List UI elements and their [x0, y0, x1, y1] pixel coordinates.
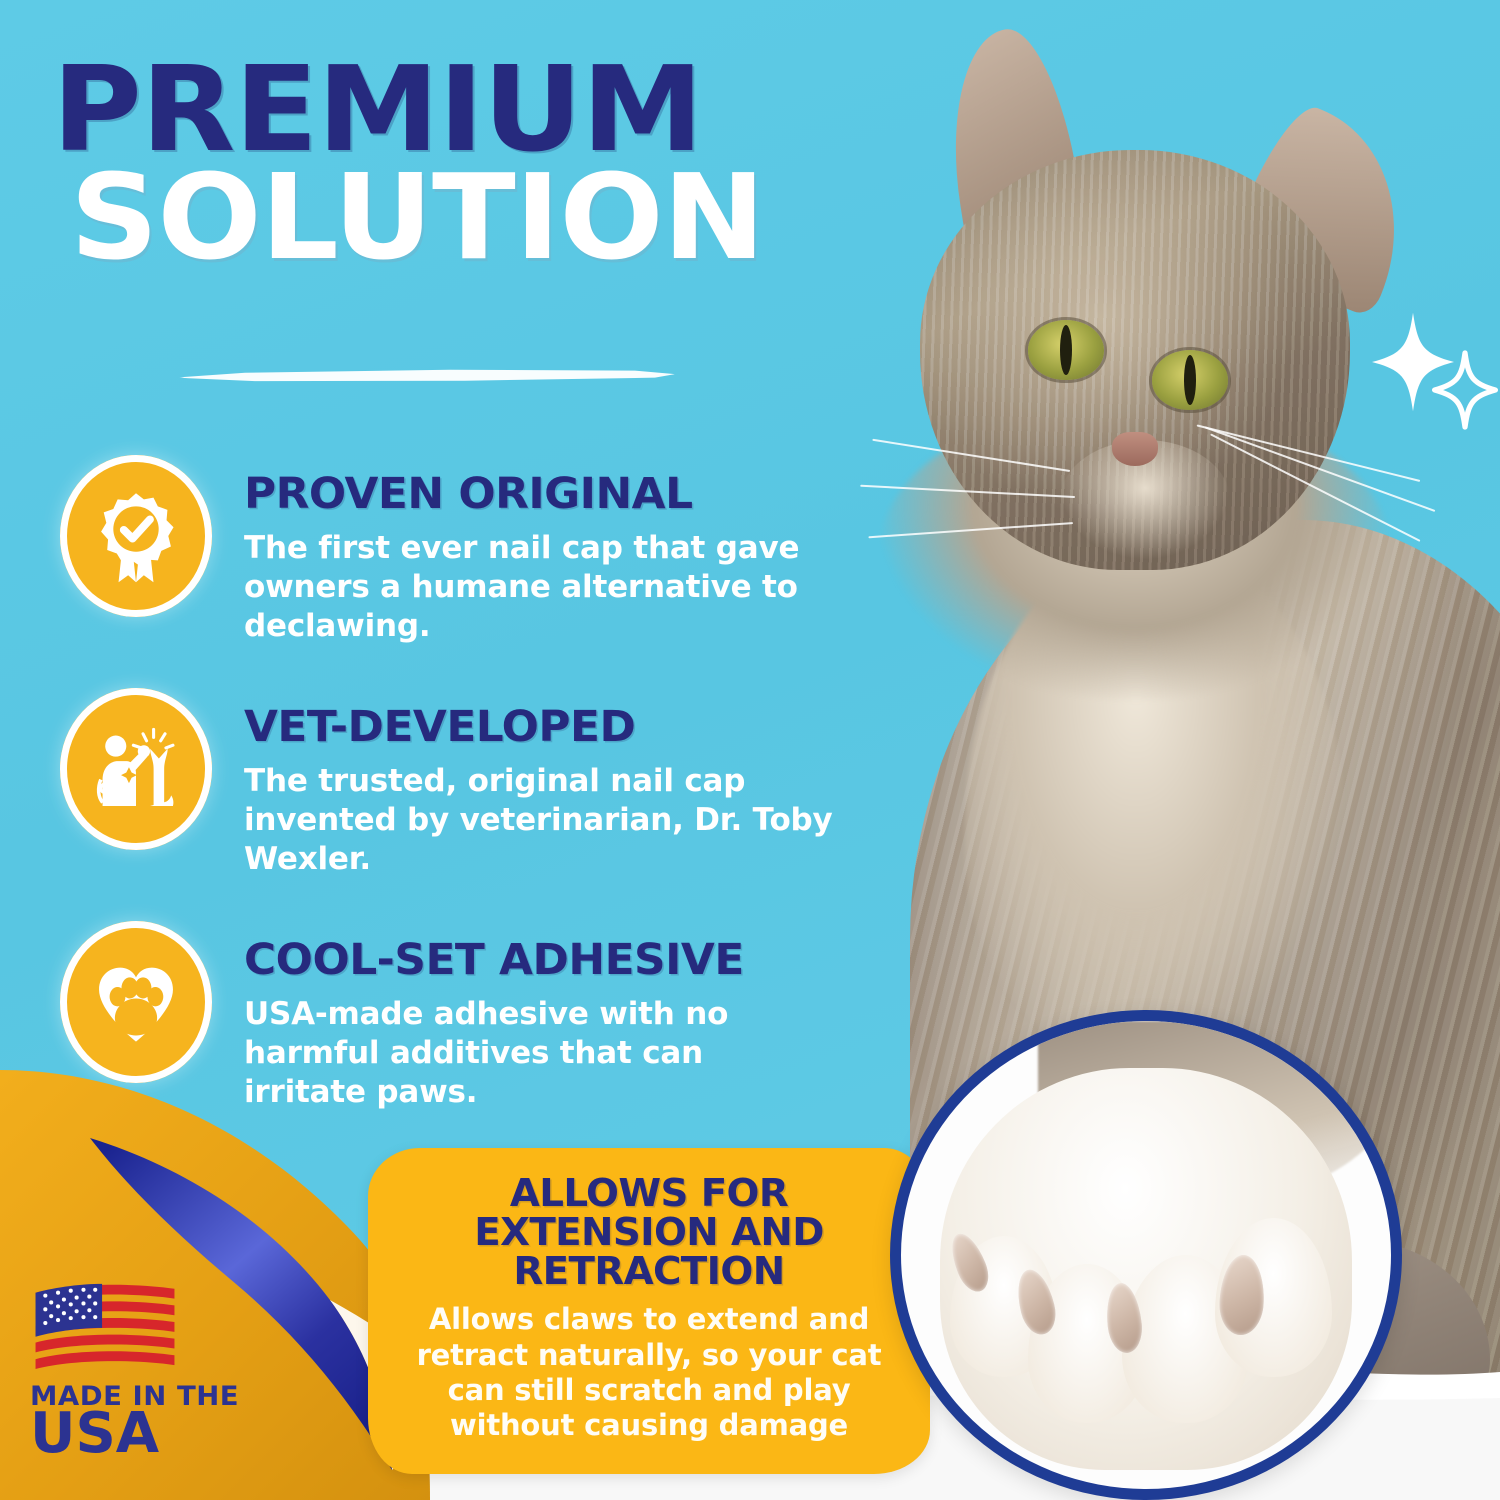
callout-body: Allows claws to extend and retract natur… [394, 1302, 904, 1444]
heart-paw-icon [60, 921, 212, 1083]
cat-eye-right [1152, 350, 1228, 410]
award-ribbon-check-icon [60, 455, 212, 617]
feature-list: PROVEN ORIGINAL The first ever nail cap … [60, 455, 860, 1154]
usa-flag-icon [30, 1279, 180, 1369]
product-infographic: PREMIUM SOLUTION PROVEN ORIGINAL The fir… [0, 0, 1500, 1500]
feature-body: The first ever nail cap that gave owners… [244, 529, 834, 646]
cat-nose [1112, 432, 1158, 466]
headline: PREMIUM SOLUTION [52, 58, 882, 270]
feature-item-proven-original: PROVEN ORIGINAL The first ever nail cap … [60, 455, 860, 646]
vet-high-five-cat-icon [60, 688, 212, 850]
extension-retraction-callout: ALLOWS FOR EXTENSION AND RETRACTION Allo… [368, 1148, 930, 1474]
feature-item-vet-developed: VET-DEVELOPED The trusted, original nail… [60, 688, 860, 879]
cat-eye-left [1028, 320, 1104, 380]
headline-line-2: SOLUTION [70, 166, 914, 270]
made-in-usa-line-2: USA [30, 1406, 240, 1462]
feature-body: The trusted, original nail cap invented … [244, 762, 834, 879]
sparkle-star-outline-icon [1432, 350, 1498, 430]
made-in-usa-badge: MADE IN THE USA [30, 1279, 240, 1462]
feature-title: PROVEN ORIGINAL [244, 469, 846, 519]
feature-title: VET-DEVELOPED [244, 702, 846, 752]
cat-paw-with-nail-caps-closeup [890, 1010, 1402, 1500]
feature-title: COOL-SET ADHESIVE [244, 935, 846, 985]
headline-line-1: PREMIUM [52, 58, 915, 162]
white-swoosh-divider [175, 364, 675, 386]
made-in-usa-line-1: MADE IN THE [30, 1381, 244, 1412]
callout-title: ALLOWS FOR EXTENSION AND RETRACTION [389, 1174, 909, 1290]
